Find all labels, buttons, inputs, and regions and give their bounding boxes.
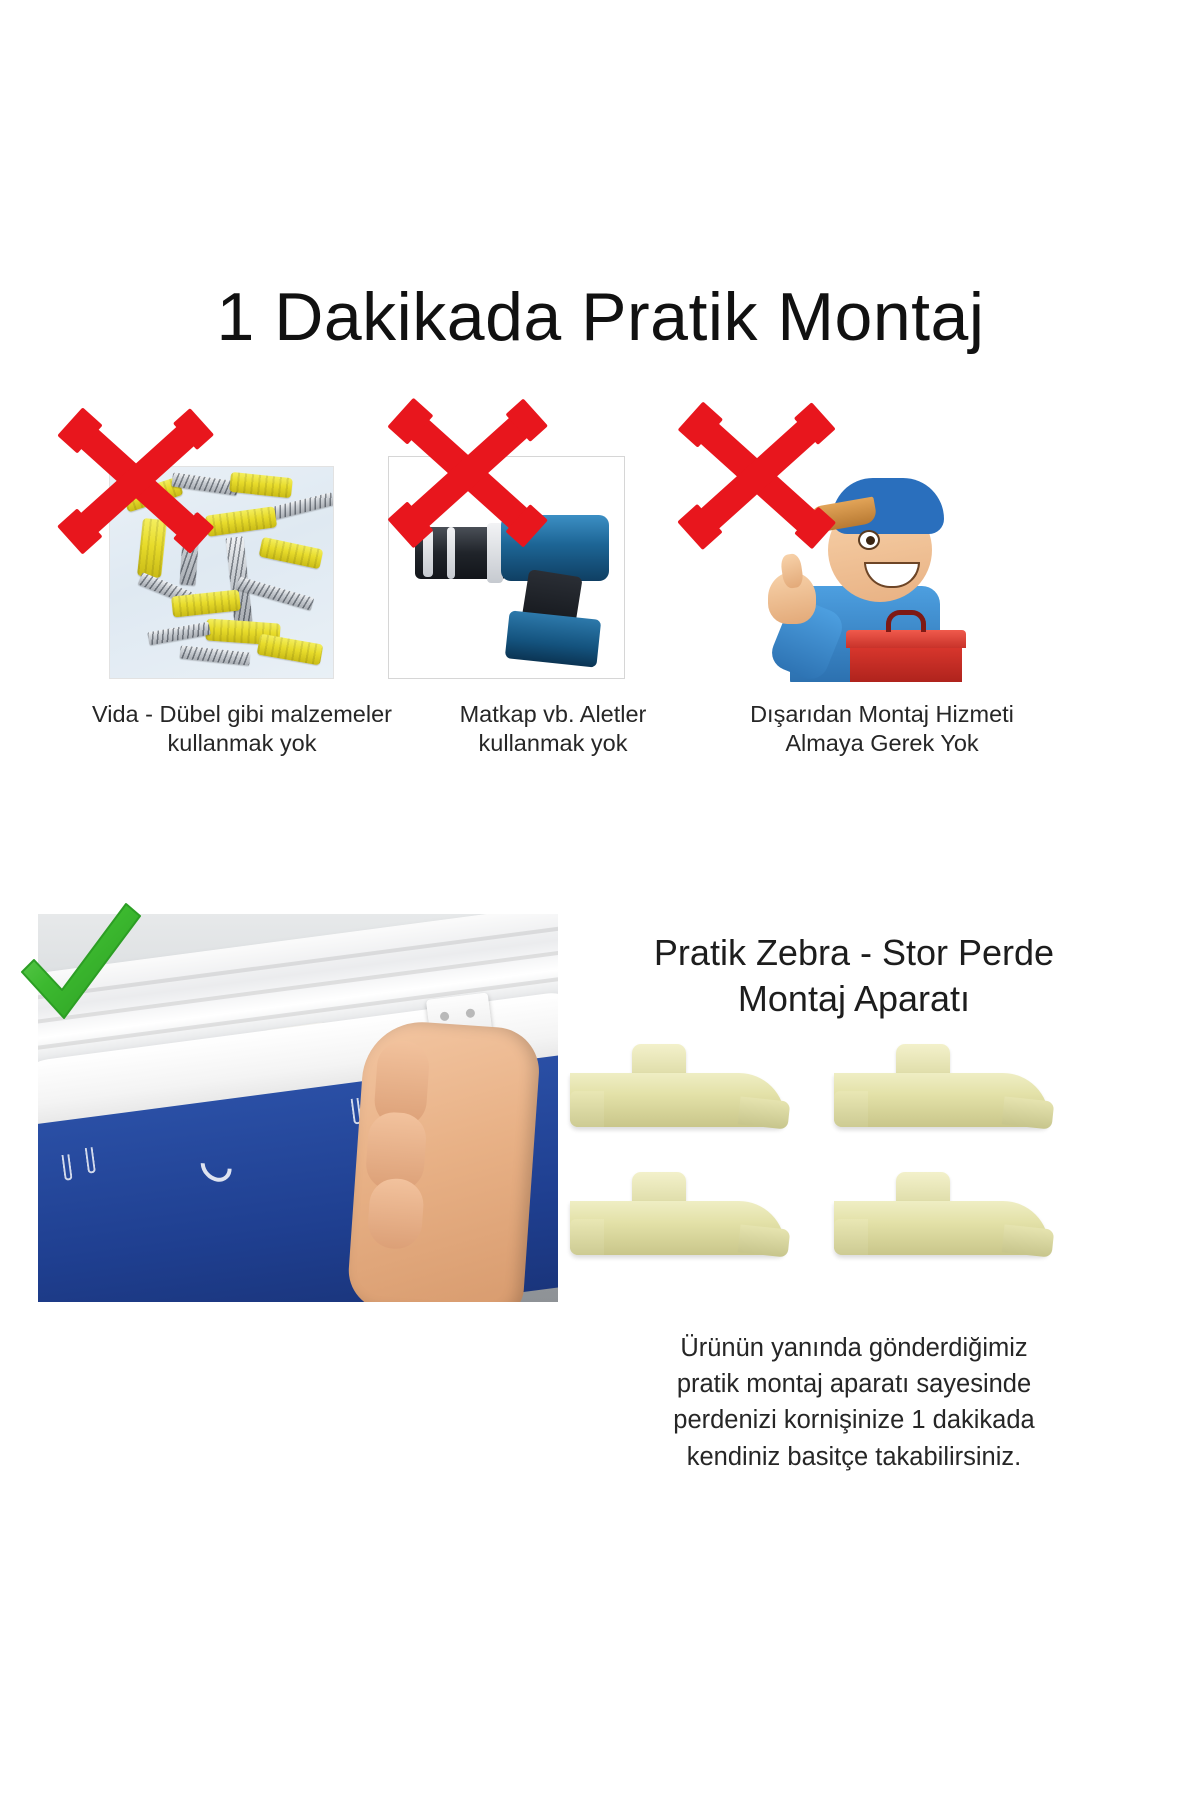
solution-paragraph: Ürünün yanında gönderdiğimiz pratik mont… (556, 1330, 1152, 1475)
mounting-clip (834, 1040, 1049, 1135)
caption-line-2: kullanmak yok (42, 729, 442, 758)
solution-heading-line-2: Montaj Aparatı (556, 976, 1152, 1022)
hand (346, 1018, 542, 1302)
caption-line-2: Almaya Gerek Yok (672, 729, 1092, 758)
caption-line-1: Matkap vb. Aletler (388, 700, 718, 729)
negative-item-drill: Matkap vb. Aletler kullanmak yok (388, 404, 718, 784)
mounting-clip (834, 1168, 1049, 1263)
mounting-clip (570, 1040, 785, 1135)
negatives-row: Vida - Dübel gibi malzemeler kullanmak y… (0, 404, 1201, 784)
mounting-clip (570, 1168, 785, 1263)
mounting-clips-grid (556, 1040, 1152, 1290)
product-infographic: 1 Dakikada Pratik Montaj (0, 0, 1201, 1801)
red-x-icon (52, 412, 220, 550)
caption-line-1: Vida - Dübel gibi malzemeler (42, 700, 442, 729)
negative-caption-drill: Matkap vb. Aletler kullanmak yok (388, 700, 718, 759)
caption-line-2: kullanmak yok (388, 729, 718, 758)
page-title: 1 Dakikada Pratik Montaj (0, 282, 1201, 353)
negative-caption-handyman: Dışarıdan Montaj Hizmeti Almaya Gerek Yo… (672, 700, 1092, 759)
negative-caption-screws: Vida - Dübel gibi malzemeler kullanmak y… (42, 700, 442, 759)
red-x-icon (382, 402, 554, 544)
red-x-icon (672, 406, 842, 546)
paragraph-line-3: perdenizi kornişinize 1 dakikada (556, 1402, 1152, 1438)
caption-line-1: Dışarıdan Montaj Hizmeti (672, 700, 1092, 729)
paragraph-line-4: kendiniz basitçe takabilirsiniz. (556, 1439, 1152, 1475)
solution-heading: Pratik Zebra - Stor Perde Montaj Aparatı (556, 930, 1152, 1022)
paragraph-line-2: pratik montaj aparatı sayesinde (556, 1366, 1152, 1402)
solution-heading-line-1: Pratik Zebra - Stor Perde (556, 930, 1152, 976)
negative-item-handyman: Dışarıdan Montaj Hizmeti Almaya Gerek Yo… (672, 404, 1092, 784)
green-check-icon (14, 898, 146, 1026)
paragraph-line-1: Ürünün yanında gönderdiğimiz (556, 1330, 1152, 1366)
